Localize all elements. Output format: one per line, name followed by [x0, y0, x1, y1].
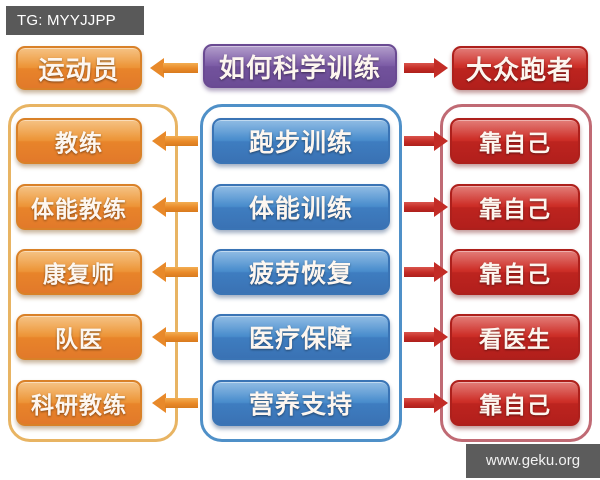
row-1-right-arrow-icon	[404, 131, 448, 151]
arrow-head	[150, 58, 164, 78]
arrow-shaft	[404, 332, 435, 342]
left-item-3[interactable]: 康复师	[16, 249, 142, 295]
row-3-left-arrow-icon	[152, 262, 198, 282]
diagram-canvas: 运动员 如何科学训练 大众跑者 教练 跑步训练 靠自己 体能教练 体能训练 靠自…	[0, 0, 600, 480]
right-item-4[interactable]: 看医生	[450, 314, 580, 360]
arrow-shaft	[165, 202, 198, 212]
center-item-4[interactable]: 医疗保障	[212, 314, 390, 360]
row-5-left-arrow-icon	[152, 393, 198, 413]
arrow-shaft	[404, 63, 435, 73]
row-5-right-arrow-icon	[404, 393, 448, 413]
arrow-head	[152, 393, 166, 413]
header-left-arrow-icon	[150, 58, 198, 78]
left-item-2[interactable]: 体能教练	[16, 184, 142, 230]
center-item-3[interactable]: 疲劳恢复	[212, 249, 390, 295]
arrow-shaft	[165, 398, 198, 408]
header-right-arrow-icon	[404, 58, 448, 78]
arrow-head	[152, 327, 166, 347]
arrow-head	[152, 197, 166, 217]
right-item-3[interactable]: 靠自己	[450, 249, 580, 295]
arrow-shaft	[404, 136, 435, 146]
arrow-head	[434, 393, 448, 413]
arrow-head	[434, 262, 448, 282]
left-item-5[interactable]: 科研教练	[16, 380, 142, 426]
right-item-1[interactable]: 靠自己	[450, 118, 580, 164]
left-item-4[interactable]: 队医	[16, 314, 142, 360]
header-athlete-node[interactable]: 运动员	[16, 46, 142, 90]
row-1-left-arrow-icon	[152, 131, 198, 151]
row-4-right-arrow-icon	[404, 327, 448, 347]
arrow-shaft	[404, 202, 435, 212]
row-3-right-arrow-icon	[404, 262, 448, 282]
arrow-head	[434, 327, 448, 347]
arrow-shaft	[165, 136, 198, 146]
arrow-head	[434, 58, 448, 78]
telegram-handle-badge: TG: MYYJJPP	[6, 6, 144, 35]
arrow-shaft	[165, 332, 198, 342]
center-item-2[interactable]: 体能训练	[212, 184, 390, 230]
header-question-node[interactable]: 如何科学训练	[203, 44, 397, 88]
site-watermark: www.geku.org	[466, 444, 600, 478]
arrow-head	[434, 197, 448, 217]
center-item-5[interactable]: 营养支持	[212, 380, 390, 426]
right-item-2[interactable]: 靠自己	[450, 184, 580, 230]
center-item-1[interactable]: 跑步训练	[212, 118, 390, 164]
arrow-shaft	[404, 267, 435, 277]
arrow-head	[152, 131, 166, 151]
row-4-left-arrow-icon	[152, 327, 198, 347]
header-amateur-runner-node[interactable]: 大众跑者	[452, 46, 588, 90]
right-item-5[interactable]: 靠自己	[450, 380, 580, 426]
left-item-1[interactable]: 教练	[16, 118, 142, 164]
arrow-shaft	[163, 63, 198, 73]
arrow-head	[152, 262, 166, 282]
arrow-shaft	[165, 267, 198, 277]
arrow-head	[434, 131, 448, 151]
arrow-shaft	[404, 398, 435, 408]
row-2-left-arrow-icon	[152, 197, 198, 217]
row-2-right-arrow-icon	[404, 197, 448, 217]
